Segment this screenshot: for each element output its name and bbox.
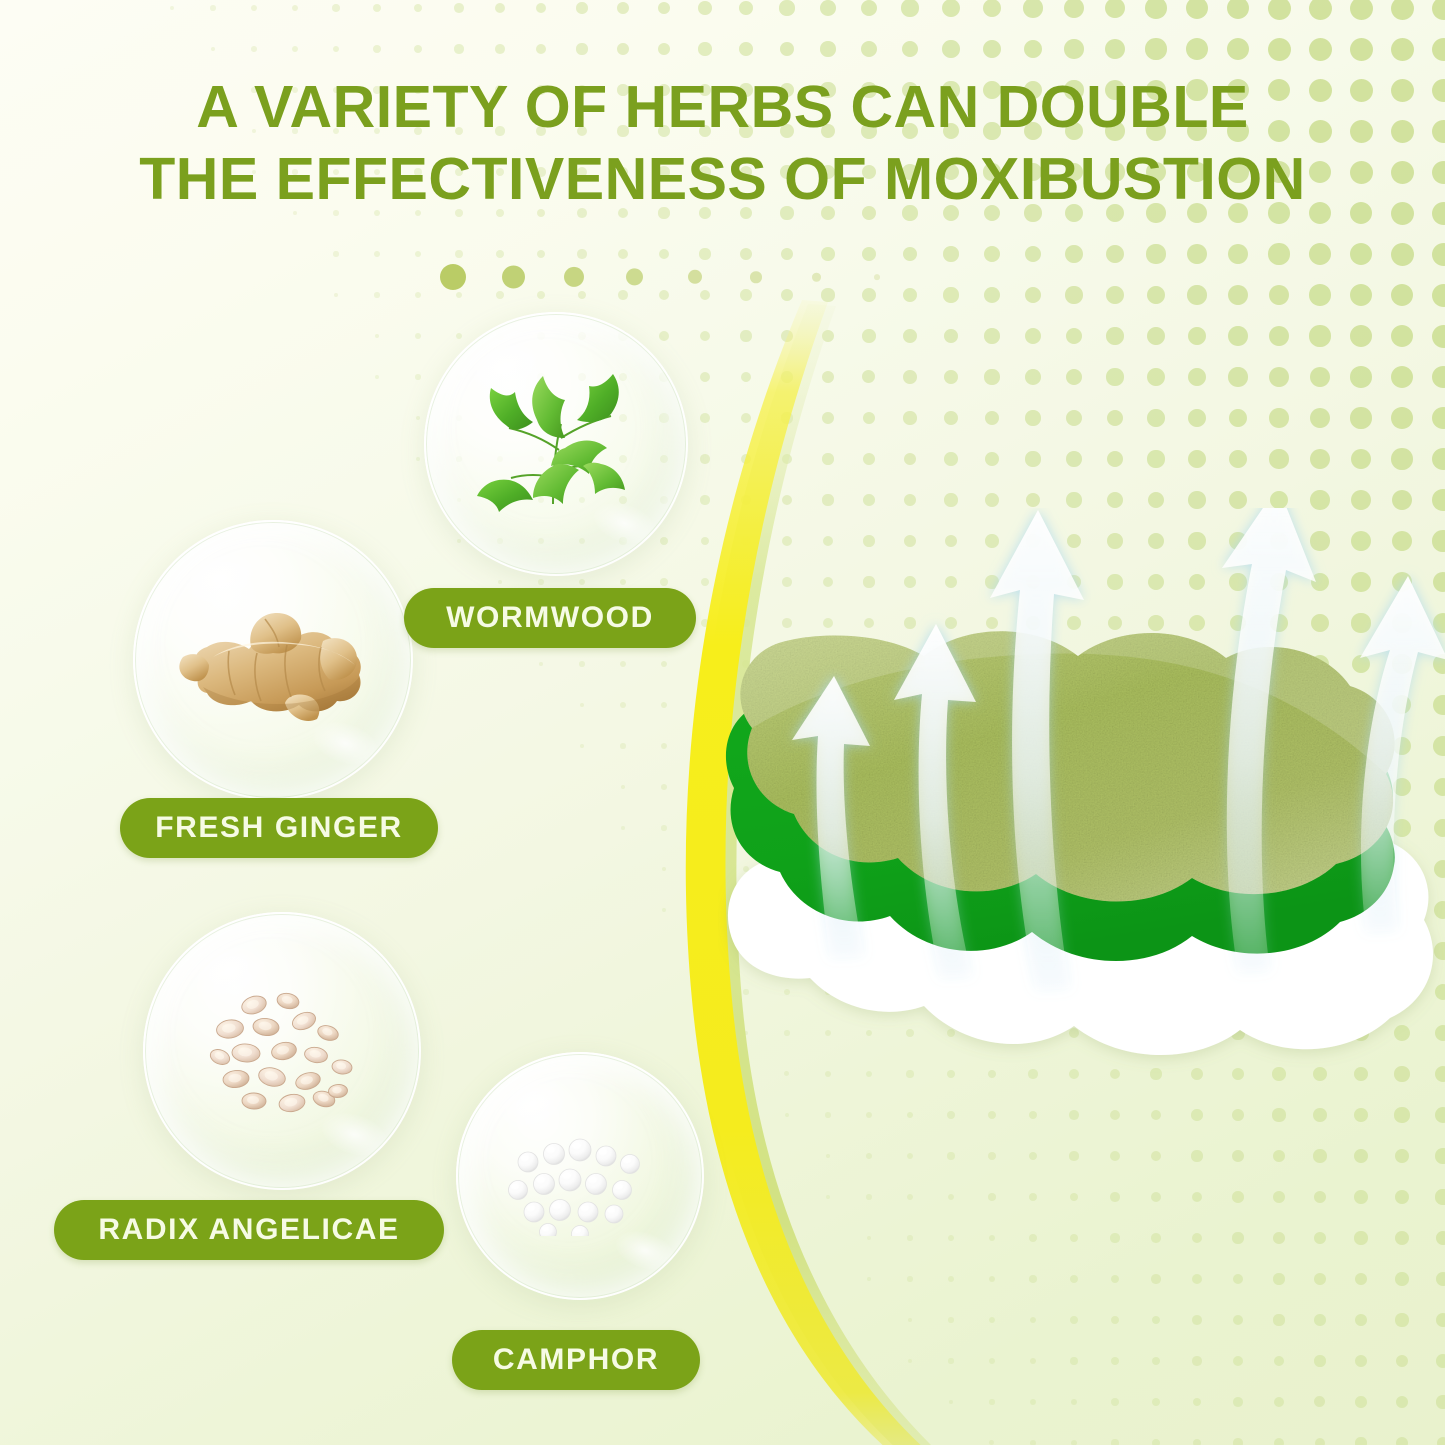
- decor-dot: [820, 41, 835, 56]
- decor-dot: [1066, 328, 1083, 345]
- decor-dot: [456, 292, 463, 299]
- decor-dot: [416, 457, 421, 462]
- label-pill-fresh-ginger[interactable]: FRESH GINGER: [120, 798, 438, 858]
- decor-dot: [1354, 1149, 1368, 1163]
- decor-dot: [1273, 1273, 1284, 1284]
- decor-dot: [1107, 492, 1123, 508]
- decor-dot: [739, 1, 753, 15]
- decor-dot: [1030, 1440, 1036, 1445]
- decor-dot: [1395, 1149, 1410, 1164]
- decor-dot: [1396, 1355, 1409, 1368]
- decor-dot: [1029, 1152, 1037, 1160]
- decor-dot: [782, 454, 793, 465]
- root-slice: [222, 1069, 250, 1089]
- decor-dot: [1313, 1108, 1327, 1122]
- decor-dot: [1030, 1317, 1037, 1324]
- decor-dot: [415, 251, 421, 257]
- decor-dot: [1432, 407, 1445, 429]
- decor-dot: [1436, 1354, 1445, 1368]
- decor-dot: [1066, 451, 1082, 467]
- decor-dot: [1274, 1438, 1284, 1445]
- decor-dot: [1391, 407, 1413, 429]
- decor-dot: [985, 411, 1000, 426]
- decor-dot: [984, 246, 1000, 262]
- decor-dot: [985, 452, 999, 466]
- decor-dot: [580, 744, 585, 749]
- decor-dot: [989, 1235, 996, 1242]
- decor-dot: [862, 370, 875, 383]
- decor-dot: [1023, 0, 1042, 18]
- decor-dot: [617, 43, 629, 55]
- decor-dot: [1151, 1233, 1161, 1243]
- decor-dot: [1232, 1232, 1243, 1243]
- decor-dot: [907, 1112, 914, 1119]
- decor-dot: [374, 292, 379, 297]
- camphor-ball: [613, 1181, 632, 1200]
- root-slice: [208, 1047, 232, 1067]
- decor-dot: [988, 1111, 996, 1119]
- decor-dot: [702, 825, 708, 831]
- decor-dot: [781, 371, 793, 383]
- decor-dot: [1024, 40, 1043, 59]
- decor-dot: [820, 0, 836, 16]
- decor-dot: [1269, 367, 1289, 387]
- decor-dot: [1432, 243, 1445, 266]
- decor-dot: [822, 330, 835, 343]
- decor-dot: [620, 702, 626, 708]
- decor-dot: [822, 494, 833, 505]
- decor-dot: [1315, 1438, 1326, 1445]
- title-decor-dot: [750, 271, 762, 283]
- decor-dot: [1188, 409, 1206, 427]
- decor-dot: [1394, 1107, 1409, 1122]
- decor-dot: [1030, 1358, 1036, 1364]
- decor-dot: [989, 1399, 994, 1404]
- decor-dot: [988, 1193, 995, 1200]
- decor-dot: [989, 1358, 995, 1364]
- decor-dot: [1070, 1234, 1078, 1242]
- decor-dot: [1151, 1151, 1162, 1162]
- decor-dot: [1025, 451, 1040, 466]
- decor-dot: [1188, 450, 1206, 468]
- decor-dot: [942, 40, 960, 58]
- decor-dot: [1309, 0, 1332, 20]
- decor-dot: [904, 494, 917, 507]
- decor-dot: [866, 1153, 872, 1159]
- decor-dot: [985, 493, 999, 507]
- label-text: FRESH GINGER: [155, 811, 403, 845]
- decor-dot: [948, 1194, 955, 1201]
- decor-dot: [908, 1318, 913, 1323]
- ingredient-bubble-radix-angelicae[interactable]: [143, 912, 421, 1190]
- title-decor-dot: [874, 274, 880, 280]
- decor-dot: [1350, 243, 1373, 266]
- decor-dot: [863, 494, 875, 506]
- decor-dot: [1350, 284, 1372, 306]
- decor-dot: [1111, 1275, 1120, 1284]
- title-decor-dot: [440, 264, 466, 290]
- wormwood-sprig-icon: [424, 312, 688, 576]
- decor-dot: [1066, 492, 1081, 507]
- decor-dot: [1152, 1439, 1160, 1445]
- decor-dot: [698, 42, 711, 55]
- decor-dot: [1106, 368, 1123, 385]
- root-slice: [303, 1046, 328, 1065]
- decor-dot: [1066, 369, 1083, 386]
- decor-dot: [949, 1400, 954, 1405]
- decor-dot: [702, 907, 707, 912]
- decor-dot: [1151, 1110, 1162, 1121]
- decor-dot: [1070, 1357, 1077, 1364]
- decor-dot: [907, 1194, 913, 1200]
- decor-dot: [826, 1195, 831, 1200]
- decor-dot: [1107, 451, 1123, 467]
- camphor-ball: [550, 1200, 571, 1221]
- decor-dot: [944, 452, 958, 466]
- decor-dot: [1391, 325, 1414, 348]
- decor-dot: [1029, 1111, 1038, 1120]
- decor-dot: [1227, 0, 1250, 19]
- decor-dot: [1395, 1272, 1409, 1286]
- decor-dot: [1069, 1110, 1079, 1120]
- decor-dot: [863, 453, 875, 465]
- decor-dot: [779, 0, 794, 15]
- decor-dot: [1148, 492, 1165, 509]
- decor-dot: [741, 454, 751, 464]
- label-text: WORMWOOD: [446, 601, 654, 635]
- decor-dot: [536, 3, 547, 14]
- decor-dot: [662, 867, 667, 872]
- decor-dot: [825, 1112, 830, 1117]
- decor-dot: [947, 1152, 954, 1159]
- decor-dot: [1147, 450, 1164, 467]
- decor-dot: [1269, 449, 1288, 468]
- decor-dot: [1106, 245, 1124, 263]
- decor-dot: [984, 369, 999, 384]
- root-slice: [294, 1070, 322, 1092]
- decor-dot: [1105, 0, 1126, 18]
- camphor-ball: [596, 1146, 616, 1166]
- decor-dot: [1111, 1357, 1119, 1365]
- decor-dot: [1025, 369, 1041, 385]
- decor-dot: [620, 579, 627, 586]
- camphor-ball: [540, 1224, 557, 1237]
- decor-dot: [373, 45, 381, 53]
- decor-dot: [1025, 410, 1040, 425]
- decor-dot: [948, 1235, 954, 1241]
- decor-dot: [661, 784, 667, 790]
- decor-dot: [1354, 1108, 1368, 1122]
- decor-dot: [661, 743, 667, 749]
- decor-dot: [702, 784, 708, 790]
- decor-dot: [1070, 1316, 1078, 1324]
- decor-dot: [1106, 327, 1124, 345]
- decor-dot: [1029, 1234, 1037, 1242]
- decor-dot: [415, 333, 421, 339]
- decor-dot: [1391, 243, 1414, 266]
- decor-dot: [536, 44, 547, 55]
- decor-dot: [1354, 1231, 1367, 1244]
- decor-dot: [1232, 1150, 1244, 1162]
- decor-dot: [1071, 1440, 1077, 1445]
- decor-dot: [701, 537, 710, 546]
- decor-dot: [414, 4, 423, 13]
- decor-dot: [1310, 408, 1330, 428]
- camphor-ball: [621, 1155, 640, 1174]
- decor-dot: [1192, 1356, 1201, 1365]
- decor-dot: [1233, 1438, 1242, 1445]
- title-line-2: THE EFFECTIVENESS OF MOXIBUSTION: [0, 144, 1445, 216]
- decor-dot: [1228, 326, 1248, 346]
- decor-dot: [1233, 1356, 1243, 1366]
- decor-dot: [579, 579, 585, 585]
- decor-dot: [1191, 1150, 1202, 1161]
- decor-dot: [944, 411, 958, 425]
- title-decor-dot: [502, 265, 525, 288]
- decor-dot: [1268, 243, 1289, 264]
- decor-dot: [1106, 286, 1124, 304]
- decor-dot: [617, 2, 629, 14]
- decor-dot: [702, 743, 709, 750]
- decor-dot: [989, 1317, 995, 1323]
- decor-dot: [1064, 0, 1084, 18]
- decor-dot: [375, 375, 380, 380]
- decor-dot: [1064, 39, 1084, 59]
- decor-dot: [1435, 1107, 1445, 1123]
- decor-dot: [496, 250, 504, 258]
- decor-dot: [210, 5, 215, 10]
- decor-dot: [1145, 0, 1166, 19]
- decor-dot: [621, 826, 626, 831]
- decor-dot: [1314, 1191, 1327, 1204]
- decor-dot: [943, 246, 959, 262]
- decor-dot: [498, 580, 503, 585]
- decor-dot: [907, 1276, 912, 1281]
- decor-dot: [1110, 1192, 1119, 1201]
- decor-dot: [292, 5, 299, 12]
- decor-dot: [1151, 1192, 1161, 1202]
- decor-dot: [333, 251, 338, 256]
- decor-dot: [948, 1317, 953, 1322]
- decor-dot: [1270, 491, 1289, 510]
- ingredient-bubble-camphor[interactable]: [456, 1052, 704, 1300]
- camphor-ball: [605, 1205, 623, 1223]
- decor-dot: [1228, 285, 1248, 305]
- decor-dot: [1350, 38, 1373, 61]
- decor-dot: [620, 743, 625, 748]
- decor-dot: [1152, 1357, 1161, 1366]
- decor-dot: [577, 249, 586, 258]
- decor-dot: [1191, 1109, 1203, 1121]
- root-slice: [257, 1065, 288, 1089]
- decor-dot: [1232, 1109, 1244, 1121]
- decor-dot: [1432, 366, 1445, 389]
- decor-dot: [741, 372, 752, 383]
- decor-dot: [1107, 410, 1124, 427]
- decor-dot: [1229, 409, 1248, 428]
- decor-dot: [1110, 1110, 1120, 1120]
- decor-dot: [1188, 368, 1207, 387]
- decor-dot: [1310, 449, 1330, 469]
- decor-dot: [701, 619, 709, 627]
- root-slice: [276, 991, 301, 1010]
- decor-dot: [1314, 1314, 1326, 1326]
- decor-dot: [1391, 38, 1414, 61]
- decor-dot: [1188, 491, 1205, 508]
- decor-dot: [1273, 1191, 1285, 1203]
- decor-dot: [1314, 1232, 1327, 1245]
- decor-dot: [740, 248, 752, 260]
- decor-dot: [741, 413, 752, 424]
- decor-dot: [1186, 38, 1208, 60]
- decor-dot: [1350, 407, 1371, 428]
- decor-dot: [1192, 1233, 1202, 1243]
- decor-dot: [661, 825, 666, 830]
- decor-dot: [700, 454, 709, 463]
- root-slice: [239, 993, 268, 1017]
- decor-dot: [948, 1358, 953, 1363]
- label-pill-radix-angelicae[interactable]: RADIX ANGELICAE: [54, 1200, 444, 1260]
- decor-dot: [1071, 1399, 1078, 1406]
- decor-dot: [1309, 243, 1331, 265]
- decor-dot: [701, 578, 709, 586]
- decor-dot: [1025, 246, 1042, 263]
- decor-dot: [908, 1359, 912, 1363]
- decor-dot: [662, 908, 666, 912]
- title-decor-dots: [440, 262, 900, 292]
- decor-dot: [1355, 1396, 1367, 1408]
- decor-dot: [1145, 38, 1166, 59]
- decor-dot: [1272, 1108, 1285, 1121]
- decor-dot: [944, 329, 959, 344]
- decor-dot: [948, 1276, 954, 1282]
- decor-dot: [1229, 491, 1247, 509]
- decor-dot: [785, 1113, 790, 1118]
- decor-dot: [495, 44, 505, 54]
- decor-dot: [1436, 1313, 1445, 1327]
- ingredient-bubble-fresh-ginger[interactable]: [133, 520, 413, 800]
- decor-dot: [1070, 1193, 1079, 1202]
- decor-dot: [1269, 408, 1289, 428]
- camphor-ball: [586, 1174, 607, 1195]
- decor-dot: [211, 47, 216, 52]
- decor-dot: [1432, 0, 1445, 20]
- root-slice: [231, 1043, 260, 1063]
- root-slice: [331, 1059, 353, 1076]
- decor-dot: [1111, 1439, 1118, 1445]
- decor-dot: [1436, 1272, 1445, 1286]
- ingredient-bubble-wormwood[interactable]: [424, 312, 688, 576]
- decor-dot: [576, 43, 587, 54]
- decor-dot: [1147, 368, 1165, 386]
- decor-dot: [739, 42, 753, 56]
- root-slice: [252, 1017, 280, 1037]
- decor-dot: [826, 1154, 831, 1159]
- decor-dot: [1273, 1232, 1285, 1244]
- decor-dot: [1193, 1439, 1202, 1445]
- decor-dot: [537, 250, 546, 259]
- decor-dot: [1147, 286, 1166, 305]
- decor-dot: [375, 334, 380, 339]
- decor-dot: [1314, 1273, 1326, 1285]
- root-slice: [290, 1009, 318, 1033]
- root-slice: [316, 1023, 340, 1043]
- decor-dot: [1314, 1355, 1325, 1366]
- root-slice: [278, 1092, 307, 1113]
- decor-dot: [1069, 1151, 1078, 1160]
- decor-dot: [1111, 1316, 1119, 1324]
- decor-dot: [1309, 325, 1330, 346]
- decor-dot: [537, 291, 545, 299]
- decor-dot: [943, 287, 958, 302]
- decor-dot: [1313, 1149, 1326, 1162]
- decor-dot: [1274, 1397, 1284, 1407]
- decor-dot: [902, 41, 919, 58]
- decor-dot: [1310, 490, 1330, 510]
- decor-dot: [1432, 38, 1445, 61]
- decor-dot: [1147, 409, 1165, 427]
- camphor-ball: [534, 1174, 555, 1195]
- title-decor-dot: [812, 273, 821, 282]
- title-decor-dot: [564, 267, 584, 287]
- decor-dot: [821, 247, 834, 260]
- decor-dot: [989, 1276, 996, 1283]
- decor-dot: [1192, 1274, 1202, 1284]
- decor-dot: [539, 662, 544, 667]
- decor-dot: [903, 247, 918, 262]
- decor-dot: [373, 4, 381, 12]
- label-text: CAMPHOR: [493, 1343, 659, 1377]
- decor-dot: [1026, 493, 1041, 508]
- decor-dot: [862, 247, 876, 261]
- label-pill-wormwood[interactable]: WORMWOOD: [404, 588, 696, 648]
- decor-dot: [863, 412, 876, 425]
- decor-dot: [620, 661, 626, 667]
- decor-dot: [901, 0, 918, 17]
- decor-dot: [1228, 367, 1247, 386]
- decor-dot: [1228, 244, 1248, 264]
- label-pill-camphor[interactable]: CAMPHOR: [452, 1330, 700, 1390]
- decor-dot: [984, 287, 1000, 303]
- decor-dot: [1314, 1396, 1325, 1407]
- decor-dot: [1146, 244, 1165, 263]
- decor-dot: [1395, 1190, 1409, 1204]
- decor-dot: [983, 0, 1002, 17]
- decor-dot: [332, 4, 339, 11]
- root-slice: [270, 1040, 298, 1062]
- decor-dot: [1187, 244, 1207, 264]
- decor-dot: [822, 453, 834, 465]
- decor-dot: [1233, 1397, 1243, 1407]
- decor-dot: [251, 5, 257, 11]
- decor-dot: [621, 785, 626, 790]
- decor-dot: [1437, 1437, 1445, 1445]
- decor-dot: [1111, 1398, 1119, 1406]
- decor-dot: [374, 251, 380, 257]
- decor-dot: [660, 578, 668, 586]
- decor-dot: [781, 412, 792, 423]
- decor-dot: [1351, 449, 1372, 470]
- decor-dot: [1192, 1315, 1202, 1325]
- camphor-ball: [569, 1139, 591, 1161]
- decor-dot: [454, 3, 463, 12]
- decor-dot: [1432, 448, 1445, 470]
- decor-dot: [781, 330, 793, 342]
- decor-dot: [495, 3, 505, 13]
- decor-dot: [1355, 1273, 1368, 1286]
- camphor-ball: [544, 1144, 565, 1165]
- label-text: RADIX ANGELICAE: [98, 1213, 399, 1247]
